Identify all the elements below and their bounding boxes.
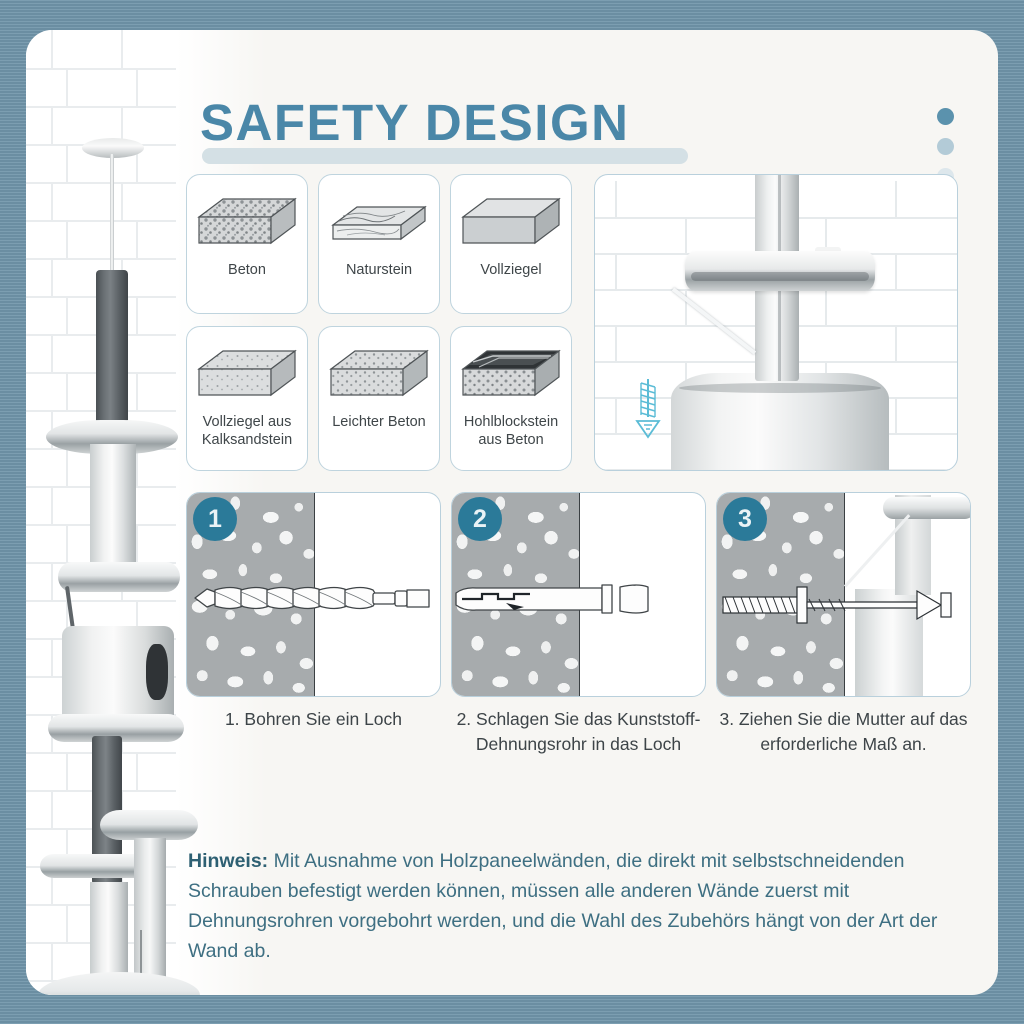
plastic-anchor-icon <box>452 579 706 619</box>
base-plate <box>38 972 200 995</box>
step-badge: 3 <box>723 497 767 541</box>
page-root: SAFETY DESIGN <box>0 0 1024 1024</box>
condo-entrance <box>146 644 168 700</box>
tension-rod <box>110 154 114 274</box>
step-caption: 3. Ziehen Sie die Mutter auf das erforde… <box>716 707 971 757</box>
page-title-wrap: SAFETY DESIGN <box>200 96 629 150</box>
step-1: 1 <box>186 492 441 757</box>
pagination-dot-1[interactable] <box>937 108 954 125</box>
material-label: Leichter Beton <box>328 413 430 431</box>
platform-5 <box>40 854 148 878</box>
light-concrete-block-icon <box>327 335 431 413</box>
material-card-hohlblockstein[interactable]: Hohlblockstein aus Beton <box>450 326 572 471</box>
step-badge: 1 <box>193 497 237 541</box>
note-body: Mit Ausnahme von Holzpaneelwänden, die d… <box>188 850 937 962</box>
steps-row: 1 <box>186 492 972 757</box>
brick-row <box>26 68 198 108</box>
material-label: Hohlblockstein aus Beton <box>451 413 571 449</box>
material-grid: Beton Naturstein <box>186 174 586 483</box>
sand-lime-brick-block-icon <box>195 335 299 413</box>
step-caption: 1. Bohren Sie ein Loch <box>186 707 441 732</box>
step-caption: 2. Schlagen Sie das Kunststoff-Dehnungsr… <box>451 707 706 757</box>
drill-bit-icon <box>193 581 435 615</box>
hanging-strap <box>65 586 75 630</box>
sisal-post-top <box>96 270 128 430</box>
trunk-1 <box>90 444 136 576</box>
platform-4 <box>100 810 198 840</box>
cat-condo <box>62 626 174 722</box>
step-2-illustration: 2 <box>451 492 706 697</box>
cat-tree-photo <box>34 138 202 995</box>
step-2: 2 2. Schlagen Sie das Ku <box>451 492 706 757</box>
trunk-3 <box>134 838 166 988</box>
screw-icon <box>633 375 663 450</box>
material-card-beton[interactable]: Beton <box>186 174 308 314</box>
brick-row <box>26 30 198 70</box>
material-card-kalksandstein[interactable]: Vollziegel aus Kalksandstein <box>186 326 308 471</box>
note-text: Hinweis: Mit Ausnahme von Holzpaneelwänd… <box>188 846 978 966</box>
natural-stone-block-icon <box>327 183 431 261</box>
cat-tree-shelf <box>883 497 971 519</box>
content-card: SAFETY DESIGN <box>26 30 998 995</box>
step-3-illustration: 3 <box>716 492 971 697</box>
step-3: 3 <box>716 492 971 757</box>
step-badge: 2 <box>458 497 502 541</box>
pagination-dot-2[interactable] <box>937 138 954 155</box>
material-card-leichter-beton[interactable]: Leichter Beton <box>318 326 440 471</box>
installation-photo-panel <box>594 174 958 471</box>
material-label: Vollziegel aus Kalksandstein <box>187 413 307 449</box>
platform-2 <box>58 562 180 592</box>
cat-tree-base <box>671 373 889 471</box>
step-1-illustration: 1 <box>186 492 441 697</box>
concrete-block-icon <box>195 183 299 261</box>
material-card-naturstein[interactable]: Naturstein <box>318 174 440 314</box>
cat-tree-shelf <box>685 251 875 291</box>
material-row-2: Vollziegel aus Kalksandstein <box>186 326 586 471</box>
material-label: Vollziegel <box>476 261 545 279</box>
screw-nut-icon <box>717 585 971 627</box>
trunk-2 <box>90 882 128 986</box>
material-row-1: Beton Naturstein <box>186 174 586 314</box>
material-label: Naturstein <box>342 261 416 279</box>
solid-brick-block-icon <box>459 183 563 261</box>
hollow-concrete-block-icon <box>459 335 563 413</box>
page-title: SAFETY DESIGN <box>200 96 629 150</box>
material-card-vollziegel[interactable]: Vollziegel <box>450 174 572 314</box>
material-label: Beton <box>224 261 270 279</box>
